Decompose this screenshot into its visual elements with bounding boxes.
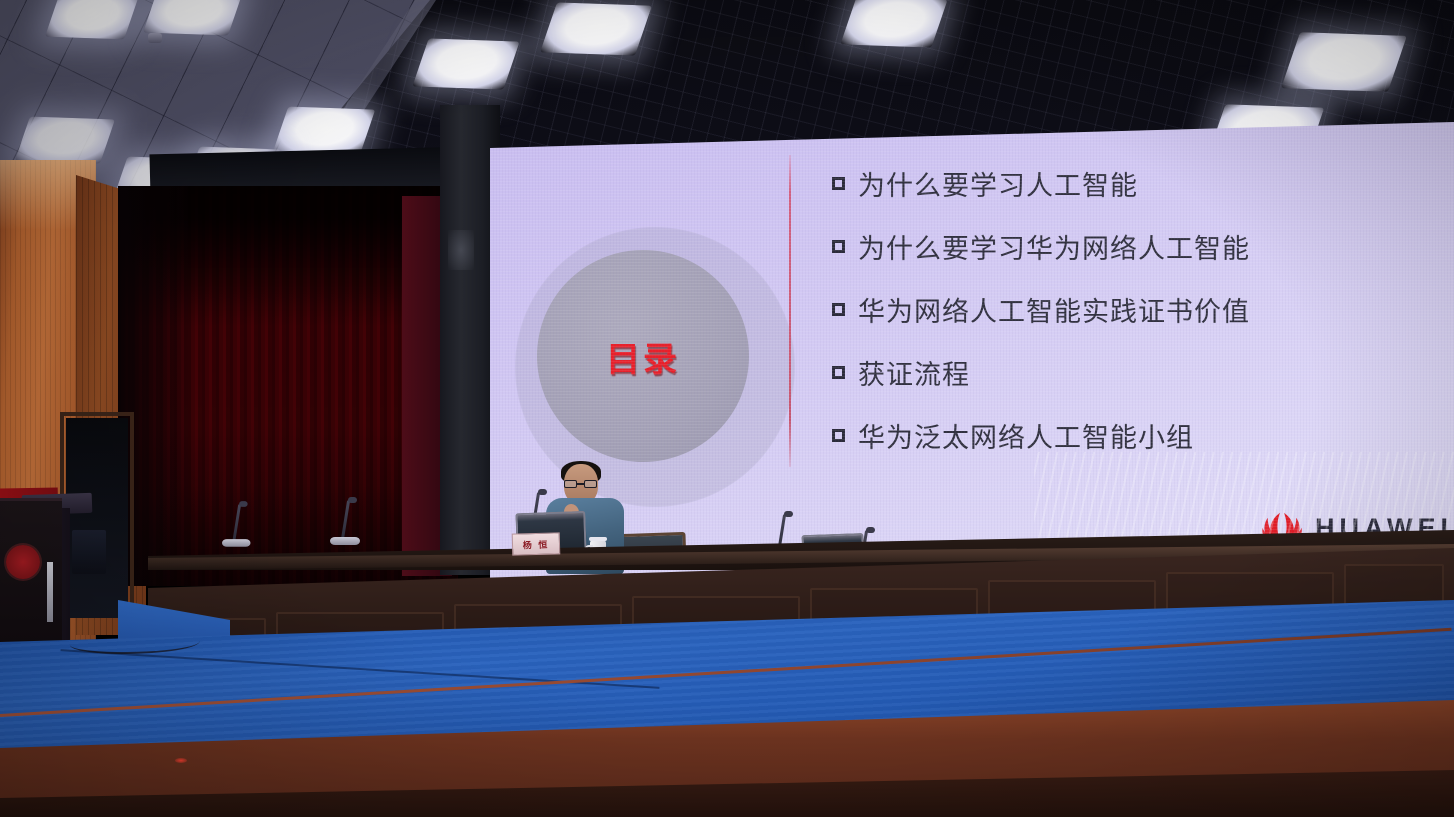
bullet-label: 获证流程 [858,353,970,392]
list-item: 华为泛太网络人工智能小组 [832,416,1432,455]
stage-edge-light-icon [175,758,187,763]
slide-bullet-list: 为什么要学习人工智能 为什么要学习华为网络人工智能 华为网络人工智能实践证书价值… [832,164,1432,479]
checkbox-marker-icon [832,177,845,190]
background-chair [72,530,106,574]
slide-circle-badge: 目录 [537,250,749,462]
bullet-label: 为什么要学习人工智能 [858,164,1138,203]
slide-vertical-divider [789,155,791,467]
stage-doorway-frame [60,412,134,622]
checkbox-marker-icon [832,303,845,316]
ceiling-light [840,0,947,48]
list-item: 获证流程 [832,353,1432,392]
auditorium-scene: 目录 为什么要学习人工智能 为什么要学习华为网络人工智能 华为网络人工智能实践证… [0,0,1454,817]
list-item: 为什么要学习华为网络人工智能 [832,227,1432,266]
name-placard: 杨 恒 [512,532,561,555]
bullet-label: 为什么要学习华为网络人工智能 [858,227,1250,266]
ceiling-light [1281,32,1407,92]
podium-emblem-icon [6,545,40,579]
ceiling-sensor-icon [148,33,162,43]
list-item: 华为网络人工智能实践证书价值 [832,290,1432,329]
slide-section-title: 目录 [606,332,680,381]
ceiling-light [15,117,115,164]
tea-mug-lid [589,537,607,541]
ceiling-light [45,0,139,39]
checkbox-marker-icon [832,240,845,253]
ceiling-light [540,2,652,55]
checkbox-marker-icon [832,366,845,379]
checkbox-marker-icon [832,429,845,442]
ceiling-light [412,38,519,89]
eyeglasses-icon [564,480,599,488]
list-item: 为什么要学习人工智能 [832,164,1432,203]
name-placard-text: 杨 恒 [523,537,550,551]
podium-light-strip [47,562,53,622]
ceiling-light [143,0,243,35]
ceiling-light [273,106,376,155]
bullet-label: 华为网络人工智能实践证书价值 [858,290,1250,329]
pillar-highlight [448,230,474,270]
bullet-label: 华为泛太网络人工智能小组 [858,416,1194,455]
projection-screen: 目录 为什么要学习人工智能 为什么要学习华为网络人工智能 华为网络人工智能实践证… [490,122,1454,578]
